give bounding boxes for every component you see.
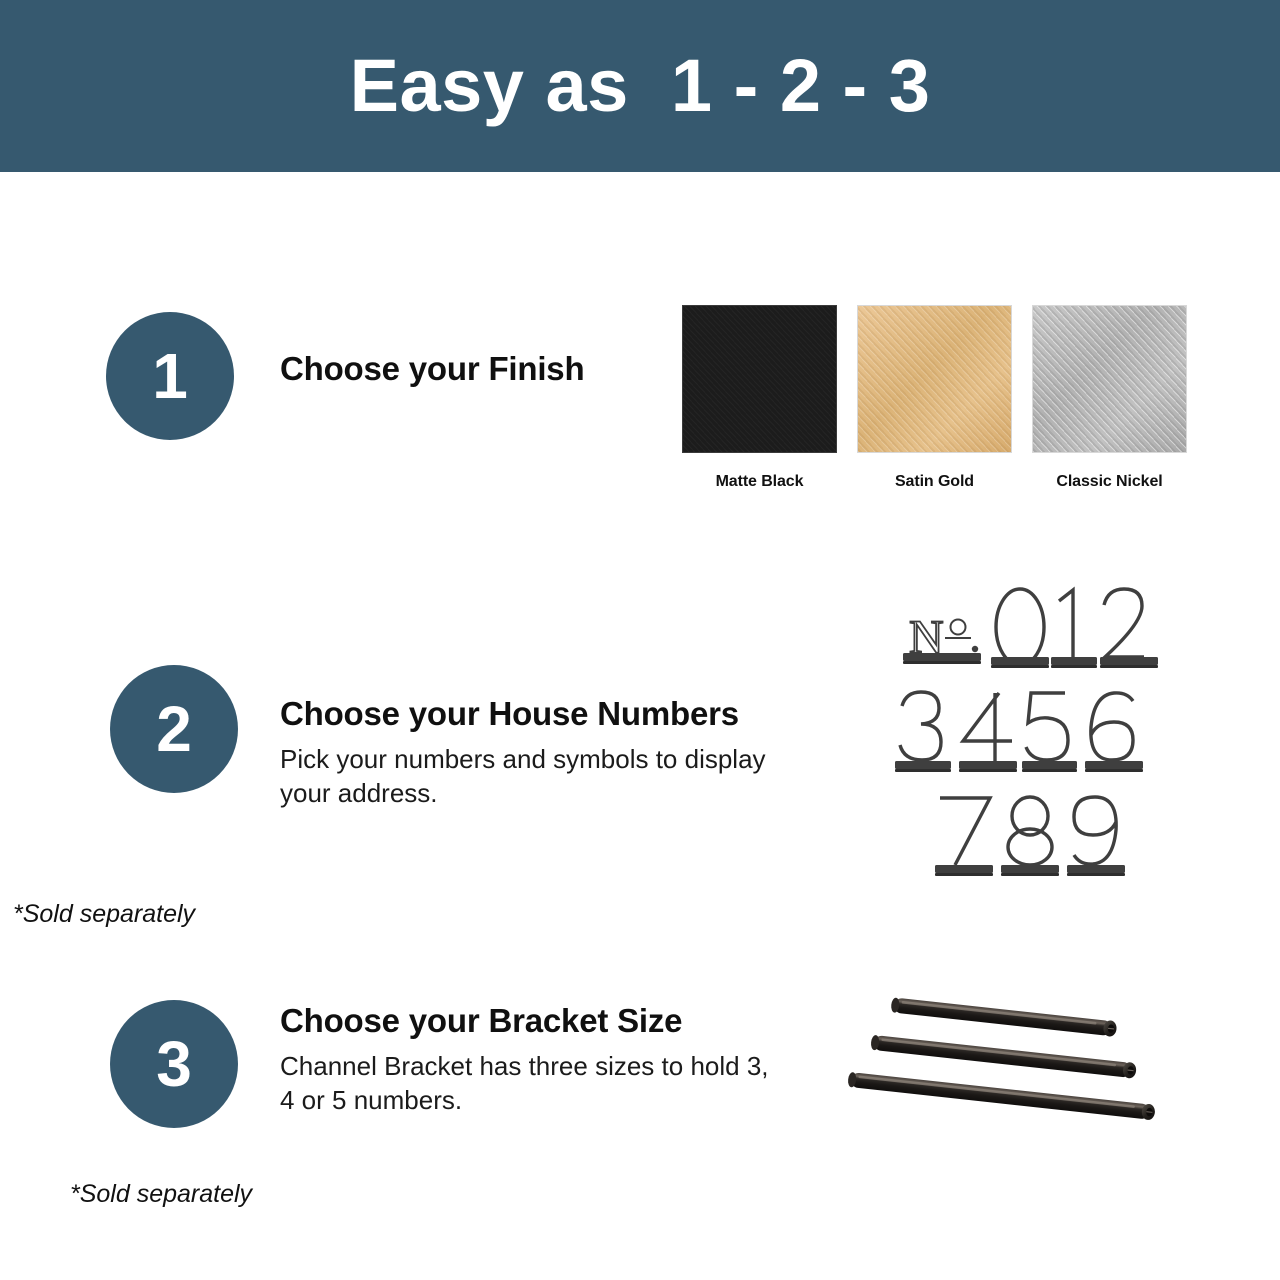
- house-number-3: [895, 692, 951, 772]
- house-number-5: [1022, 693, 1077, 772]
- house-numbers-illustration: .num { font-family: "Liberation Serif", …: [895, 585, 1165, 885]
- channel-bracket-illustration: [838, 990, 1178, 1170]
- finish-label-matte-black: Matte Black: [682, 473, 837, 491]
- page-title: Easy as 1 - 2 - 3: [350, 49, 931, 123]
- step-2-heading: Choose your House Numbers: [280, 695, 780, 733]
- finish-option-satin-gold[interactable]: Satin Gold: [857, 305, 1012, 491]
- step-number-badge-1: 1: [106, 312, 234, 440]
- house-number-8: [1001, 797, 1059, 876]
- bracket-rail-large: [847, 1071, 1155, 1120]
- step-3-body: Channel Bracket has three sizes to hold …: [280, 1050, 780, 1118]
- step-number-badge-3: 3: [110, 1000, 238, 1128]
- finish-label-satin-gold: Satin Gold: [857, 473, 1012, 491]
- step-3-text-block: Choose your Bracket Size Channel Bracket…: [280, 1002, 780, 1118]
- house-number-row-2: [895, 692, 1143, 772]
- step-2-sold-separately-note: *Sold separately: [13, 900, 195, 929]
- house-number-no-symbol: N: [903, 611, 981, 664]
- step-number-badge-2: 2: [110, 665, 238, 793]
- finish-option-classic-nickel[interactable]: Classic Nickel: [1032, 305, 1187, 491]
- infographic-page: Easy as 1 - 2 - 3 1 Choose your Finish M…: [0, 0, 1280, 1280]
- house-number-0: [991, 589, 1049, 668]
- step-3-heading: Choose your Bracket Size: [280, 1002, 780, 1040]
- step-2-choose-house-numbers: 2 Choose your House Numbers Pick your nu…: [0, 580, 1280, 950]
- finish-label-classic-nickel: Classic Nickel: [1032, 473, 1187, 491]
- house-number-row-3: [935, 797, 1125, 876]
- house-number-9: [1067, 797, 1125, 876]
- swatch-classic-nickel[interactable]: [1032, 305, 1187, 453]
- swatch-matte-black[interactable]: [682, 305, 837, 453]
- house-number-6: [1085, 693, 1143, 772]
- step-3-sold-separately-note: *Sold separately: [70, 1180, 252, 1209]
- house-number-7: [935, 798, 993, 876]
- step-2-body: Pick your numbers and symbols to display…: [280, 743, 780, 811]
- bracket-rail-medium: [870, 1034, 1137, 1079]
- swatch-satin-gold[interactable]: [857, 305, 1012, 453]
- step-3-choose-bracket-size: 3 Choose your Bracket Size Channel Brack…: [0, 960, 1280, 1220]
- house-number-row-1: N: [903, 589, 1158, 668]
- step-1-choose-finish: 1 Choose your Finish Matte Black Satin G…: [0, 290, 1280, 520]
- bracket-rail-small: [890, 997, 1117, 1037]
- house-number-1: [1051, 590, 1097, 668]
- house-number-2: [1100, 589, 1158, 668]
- step-1-text-block: Choose your Finish: [280, 350, 584, 388]
- finish-swatch-group: Matte Black Satin Gold Classic Nickel: [682, 305, 1187, 491]
- header-band: Easy as 1 - 2 - 3: [0, 0, 1280, 172]
- step-2-text-block: Choose your House Numbers Pick your numb…: [280, 695, 780, 811]
- step-1-heading: Choose your Finish: [280, 350, 584, 388]
- house-number-4: [959, 693, 1017, 772]
- finish-option-matte-black[interactable]: Matte Black: [682, 305, 837, 491]
